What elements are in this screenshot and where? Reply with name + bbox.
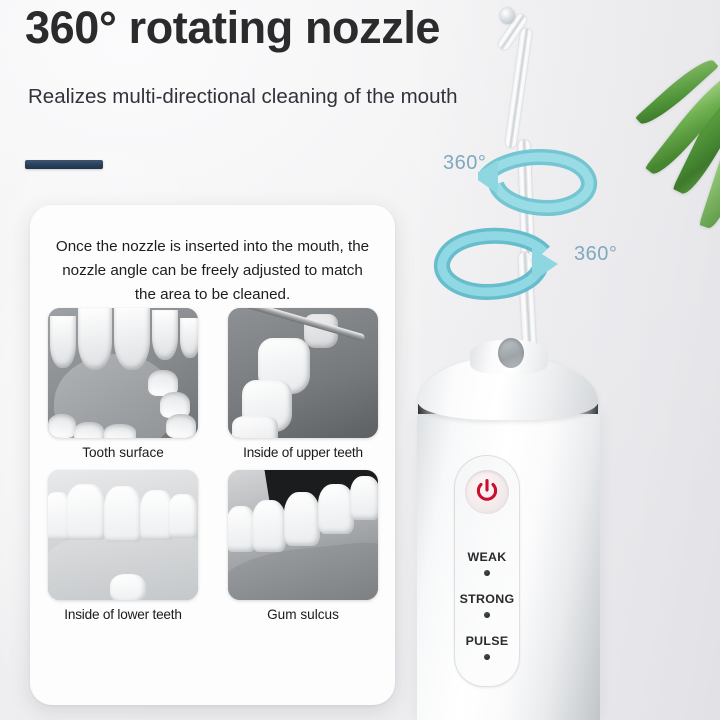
thumbnail-caption: Inside of upper teeth: [228, 445, 378, 460]
rotation-arrow-top: [478, 157, 589, 208]
power-icon[interactable]: [474, 478, 500, 504]
led-indicator-weak: [484, 570, 490, 576]
mode-label-strong: STRONG: [442, 592, 532, 606]
rotation-arrow-bottom: [442, 236, 558, 292]
thumbnail-caption: Inside of lower teeth: [48, 607, 198, 622]
thumbnail-item[interactable]: Inside of lower teeth: [48, 470, 198, 622]
led-indicator-pulse: [484, 654, 490, 660]
thumbnail-grid: Tooth surface Inside of upper teeth: [48, 308, 378, 622]
thumbnail-image-upper-teeth[interactable]: [228, 308, 378, 438]
thumbnail-item[interactable]: Gum sulcus: [228, 470, 378, 622]
nozzle-port: [498, 338, 524, 368]
rotation-label-top: 360°: [443, 152, 486, 175]
mode-label-pulse: PULSE: [442, 634, 532, 648]
thumbnail-caption: Gum sulcus: [228, 607, 378, 622]
led-indicator-strong: [484, 612, 490, 618]
accent-bar: [25, 160, 103, 169]
product-feature-image: 360° 360° WEAK STRONG PULSE 360° rotatin…: [0, 0, 720, 720]
rotation-label-bottom: 360°: [574, 243, 617, 266]
thumbnail-image-gum-sulcus[interactable]: [228, 470, 378, 600]
nozzle-tip-icon: [500, 8, 515, 24]
thumbnail-item[interactable]: Tooth surface: [48, 308, 198, 460]
info-card: Once the nozzle is inserted into the mou…: [30, 205, 395, 705]
thumbnail-image-lower-teeth[interactable]: [48, 470, 198, 600]
thumbnail-item[interactable]: Inside of upper teeth: [228, 308, 378, 460]
page-subtitle: Realizes multi-directional cleaning of t…: [28, 84, 458, 110]
thumbnail-caption: Tooth surface: [48, 445, 198, 460]
card-description: Once the nozzle is inserted into the mou…: [52, 235, 373, 307]
mode-label-weak: WEAK: [442, 550, 532, 564]
thumbnail-image-tooth-surface[interactable]: [48, 308, 198, 438]
page-title: 360° rotating nozzle: [25, 2, 440, 54]
